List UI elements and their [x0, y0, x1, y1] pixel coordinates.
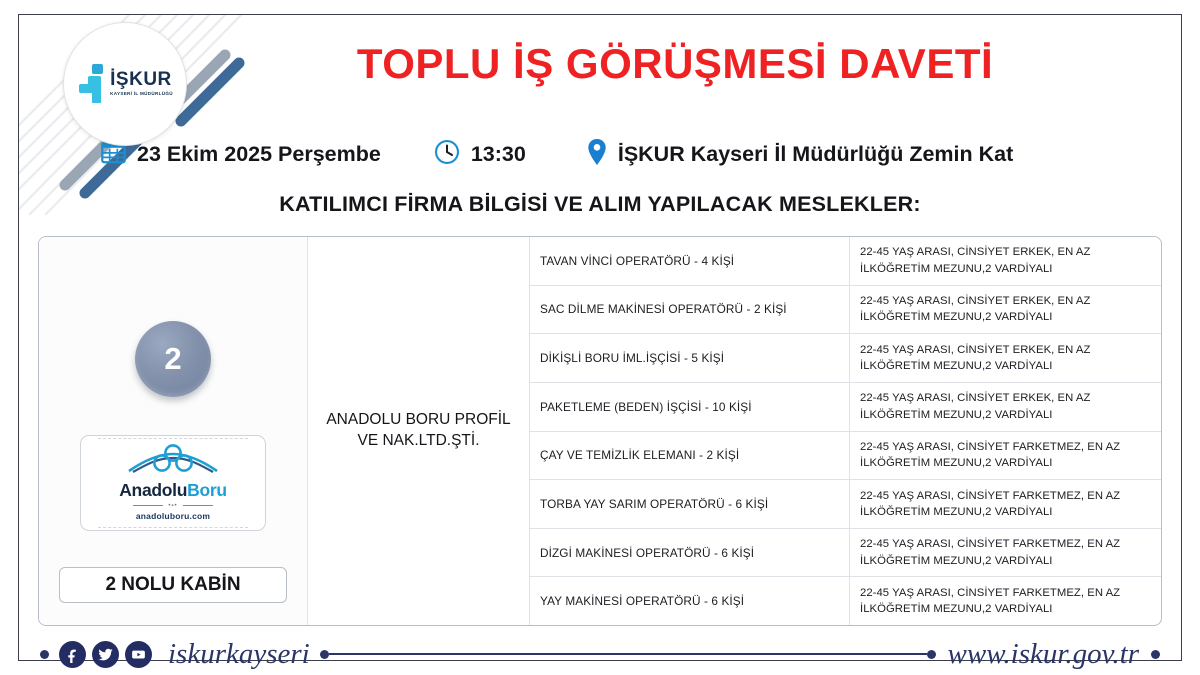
job-requirements-cell: 22-45 YAŞ ARASI, CİNSİYET FARKETMEZ, EN … [850, 529, 1161, 577]
job-title-cell: ÇAY VE TEMİZLİK ELEMANI - 2 KİŞİ [530, 432, 850, 480]
company-name-cell: ANADOLU BORU PROFİL VE NAK.LTD.ŞTİ. [307, 237, 529, 625]
job-title-cell: DİKİŞLİ BORU İML.İŞÇİSİ - 5 KİŞİ [530, 334, 850, 382]
section-subtitle: KATILIMCI FİRMA BİLGİSİ VE ALIM YAPILACA… [40, 192, 1160, 217]
footer: iskurkayseri www.iskur.gov.tr [40, 636, 1160, 672]
event-location: İŞKUR Kayseri İl Müdürlüğü Zemin Kat [586, 138, 1013, 171]
company-logo: AnadoluBoru •▪• anadoluboru.com [80, 435, 266, 531]
event-time: 13:30 [433, 138, 526, 171]
table-row: PAKETLEME (BEDEN) İŞÇİSİ - 10 KİŞİ 22-45… [530, 383, 1161, 432]
map-pin-icon [586, 138, 608, 171]
company-logo-url: anadoluboru.com [136, 511, 210, 521]
table-row: ÇAY VE TEMİZLİK ELEMANI - 2 KİŞİ 22-45 Y… [530, 432, 1161, 481]
job-requirements-cell: 22-45 YAŞ ARASI, CİNSİYET FARKETMEZ, EN … [850, 480, 1161, 528]
event-date-text: 23 Ekim 2025 Perşembe [137, 142, 381, 167]
job-title-cell: PAKETLEME (BEDEN) İŞÇİSİ - 10 KİŞİ [530, 383, 850, 431]
divider [98, 527, 248, 528]
job-requirements-cell: 22-45 YAŞ ARASI, CİNSİYET ERKEK, EN AZ İ… [850, 286, 1161, 334]
company-logo-name: AnadoluBoru [119, 482, 227, 500]
rule-left [133, 505, 163, 506]
social-handle: iskurkayseri [168, 638, 310, 671]
cabin-label-button[interactable]: 2 NOLU KABİN [59, 567, 287, 603]
cabin-number-badge: 2 [135, 321, 211, 397]
job-requirements-cell: 22-45 YAŞ ARASI, CİNSİYET ERKEK, EN AZ İ… [850, 237, 1161, 285]
youtube-icon[interactable] [125, 641, 152, 668]
table-row: DİKİŞLİ BORU İML.İŞÇİSİ - 5 KİŞİ 22-45 Y… [530, 334, 1161, 383]
job-requirements-cell: 22-45 YAŞ ARASI, CİNSİYET FARKETMEZ, EN … [850, 577, 1161, 625]
job-requirements-cell: 22-45 YAŞ ARASI, CİNSİYET ERKEK, EN AZ İ… [850, 334, 1161, 382]
table-row: DİZGİ MAKİNESİ OPERATÖRÜ - 6 KİŞİ 22-45 … [530, 529, 1161, 578]
job-title-cell: TAVAN VİNCİ OPERATÖRÜ - 4 KİŞİ [530, 237, 850, 285]
divider [98, 438, 248, 439]
footer-dot [40, 650, 49, 659]
twitter-icon[interactable] [92, 641, 119, 668]
jobs-table: TAVAN VİNCİ OPERATÖRÜ - 4 KİŞİ 22-45 YAŞ… [529, 237, 1161, 625]
iskur-logo-subtitle: KAYSERİ İL MÜDÜRLÜĞÜ [110, 92, 173, 97]
iskur-logo-name: İŞKUR [110, 70, 173, 89]
job-requirements-cell: 22-45 YAŞ ARASI, CİNSİYET FARKETMEZ, EN … [850, 432, 1161, 480]
event-time-text: 13:30 [471, 142, 526, 167]
company-logo-name-part2: Boru [187, 480, 227, 500]
clock-icon [433, 138, 461, 171]
event-location-text: İŞKUR Kayseri İl Müdürlüğü Zemin Kat [618, 142, 1013, 167]
job-title-cell: YAY MAKİNESİ OPERATÖRÜ - 6 KİŞİ [530, 577, 850, 625]
social-links [59, 641, 152, 668]
job-title-cell: SAC DİLME MAKİNESİ OPERATÖRÜ - 2 KİŞİ [530, 286, 850, 334]
company-name-text: ANADOLU BORU PROFİL VE NAK.LTD.ŞTİ. [318, 410, 519, 452]
rule-right [183, 505, 213, 506]
table-row: TORBA YAY SARIM OPERATÖRÜ - 6 KİŞİ 22-45… [530, 480, 1161, 529]
footer-divider-line [329, 653, 927, 655]
footer-dot [927, 650, 936, 659]
poster-page: İŞKUR KAYSERİ İL MÜDÜRLÜĞÜ TOPLU İŞ GÖRÜ… [0, 0, 1200, 675]
website-url: www.iskur.gov.tr [948, 638, 1139, 671]
company-logo-name-part1: Anadolu [119, 480, 187, 500]
table-row: TAVAN VİNCİ OPERATÖRÜ - 4 KİŞİ 22-45 YAŞ… [530, 237, 1161, 286]
iskur-logo-icon [77, 63, 107, 103]
job-title-cell: DİZGİ MAKİNESİ OPERATÖRÜ - 6 KİŞİ [530, 529, 850, 577]
page-title: TOPLU İŞ GÖRÜŞMESİ DAVETİ [330, 40, 1020, 88]
dots: •▪• [168, 503, 177, 509]
table-row: SAC DİLME MAKİNESİ OPERATÖRÜ - 2 KİŞİ 22… [530, 286, 1161, 335]
job-title-cell: TORBA YAY SARIM OPERATÖRÜ - 6 KİŞİ [530, 480, 850, 528]
footer-dot [320, 650, 329, 659]
participants-panel: 2 AnadoluBoru •▪• [38, 236, 1162, 626]
facebook-icon[interactable] [59, 641, 86, 668]
three-circles-pipe-icon [125, 444, 221, 481]
event-info-bar: 23 Ekim 2025 Perşembe 13:30 İŞKUR Kayse [100, 132, 1160, 176]
iskur-logo: İŞKUR KAYSERİ İL MÜDÜRLÜĞÜ [63, 22, 187, 146]
company-logo-url-rule: •▪• [133, 503, 212, 509]
table-row: YAY MAKİNESİ OPERATÖRÜ - 6 KİŞİ 22-45 YA… [530, 577, 1161, 625]
job-requirements-cell: 22-45 YAŞ ARASI, CİNSİYET ERKEK, EN AZ İ… [850, 383, 1161, 431]
company-summary-column: 2 AnadoluBoru •▪• [39, 237, 307, 625]
footer-dot [1151, 650, 1160, 659]
